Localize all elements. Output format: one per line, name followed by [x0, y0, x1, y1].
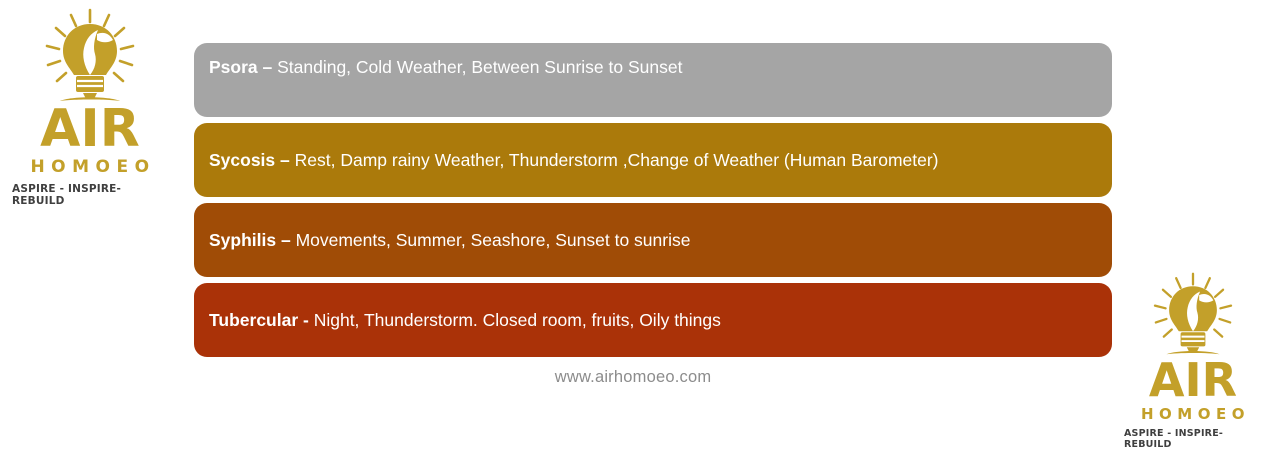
miasm-bar-list: Psora – Standing, Cold Weather, Between … — [194, 43, 1112, 363]
miasm-term: Tubercular - — [209, 310, 309, 330]
miasm-term: Syphilis – — [209, 230, 291, 250]
brand-tagline: ASPIRE - INSPIRE- REBUILD — [12, 183, 168, 207]
miasm-bar-psora: Psora – Standing, Cold Weather, Between … — [194, 43, 1112, 117]
miasm-term: Psora – — [209, 57, 272, 77]
miasm-bar-text: Syphilis – Movements, Summer, Seashore, … — [209, 229, 690, 252]
miasm-bar-sycosis: Sycosis – Rest, Damp rainy Weather, Thun… — [194, 123, 1112, 197]
miasm-detail: Movements, Summer, Seashore, Sunset to s… — [291, 230, 691, 250]
miasm-bar-tubercular: Tubercular - Night, Thunderstorm. Closed… — [194, 283, 1112, 357]
miasm-bar-text: Tubercular - Night, Thunderstorm. Closed… — [209, 309, 721, 332]
brand-name: AIR — [40, 103, 140, 155]
brand-logo-top-left: AIR HOMOEO ASPIRE - INSPIRE- REBUILD — [12, 8, 168, 207]
website-url: www.airhomoeo.com — [0, 368, 1266, 387]
brand-subname: HOMOEO — [24, 159, 155, 176]
brand-name: AIR — [1149, 357, 1237, 403]
brand-subname: HOMOEO — [1136, 407, 1250, 422]
miasm-bar-text: Sycosis – Rest, Damp rainy Weather, Thun… — [209, 149, 939, 172]
miasm-bar-text: Psora – Standing, Cold Weather, Between … — [209, 56, 682, 79]
miasm-detail: Standing, Cold Weather, Between Sunrise … — [272, 57, 682, 77]
miasm-detail: Rest, Damp rainy Weather, Thunderstorm ,… — [290, 150, 939, 170]
lightbulb-icon — [38, 8, 142, 109]
miasm-bar-syphilis: Syphilis – Movements, Summer, Seashore, … — [194, 203, 1112, 277]
miasm-detail: Night, Thunderstorm. Closed room, fruits… — [309, 310, 721, 330]
miasm-term: Sycosis – — [209, 150, 290, 170]
brand-tagline: ASPIRE - INSPIRE- REBUILD — [1124, 428, 1262, 450]
lightbulb-icon — [1147, 272, 1239, 362]
brand-logo-bottom-right: AIR HOMOEO ASPIRE - INSPIRE- REBUILD — [1124, 272, 1262, 450]
